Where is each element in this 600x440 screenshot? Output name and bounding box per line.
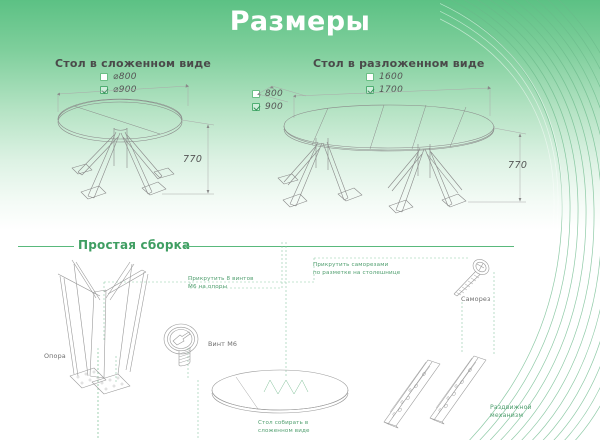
label-line-1: Раздвижной xyxy=(490,404,532,411)
dimension-height-folded: 770 xyxy=(183,154,202,165)
callout-line-2: по разметке на столешнице xyxy=(313,270,400,276)
section-heading-unfolded: Стол в разложенном виде xyxy=(313,57,485,70)
assembly-heading: Простая сборка xyxy=(78,238,190,252)
drawing-screw-m6 xyxy=(160,320,210,370)
label-line-2: механизм xyxy=(490,412,523,419)
callout-line-1: Прикрутить саморезами xyxy=(313,262,388,268)
poster-page: Размеры Стол в сложе xyxy=(0,0,600,440)
drawing-slide-mechanism xyxy=(378,348,498,433)
callout-line-1: Прикрутить 8 винтов xyxy=(188,276,254,282)
assembly-divider: Простая сборка xyxy=(0,236,600,256)
section-heading-folded: Стол в сложенном виде xyxy=(55,57,211,70)
dimension-height-unfolded: 770 xyxy=(508,160,527,171)
label-support: Опора xyxy=(44,352,66,361)
callout-line-2: сложенном виде xyxy=(258,428,310,434)
callout-attach-markup: Прикрутить саморезами по разметке на сто… xyxy=(313,262,400,277)
callout-assemble-folded: Стол собирать в сложенном виде xyxy=(258,420,310,435)
page-title: Размеры xyxy=(0,6,600,37)
drawing-folded-table xyxy=(48,80,228,210)
drawing-tabletop-underside xyxy=(210,366,360,426)
divider-line-right xyxy=(184,246,514,247)
label-slide-mechanism: Раздвижной механизм xyxy=(490,404,532,421)
label-self-tapping-screw: Саморез xyxy=(461,295,491,304)
callout-line-2: М6 на опоры xyxy=(188,284,227,290)
label-screw-m6: Винт М6 xyxy=(208,340,237,349)
drawing-unfolded-table xyxy=(250,80,540,215)
divider-line-left xyxy=(18,246,74,247)
callout-line-1: Стол собирать в xyxy=(258,420,308,426)
callout-attach-screws: Прикрутить 8 винтов М6 на опоры xyxy=(188,276,254,291)
